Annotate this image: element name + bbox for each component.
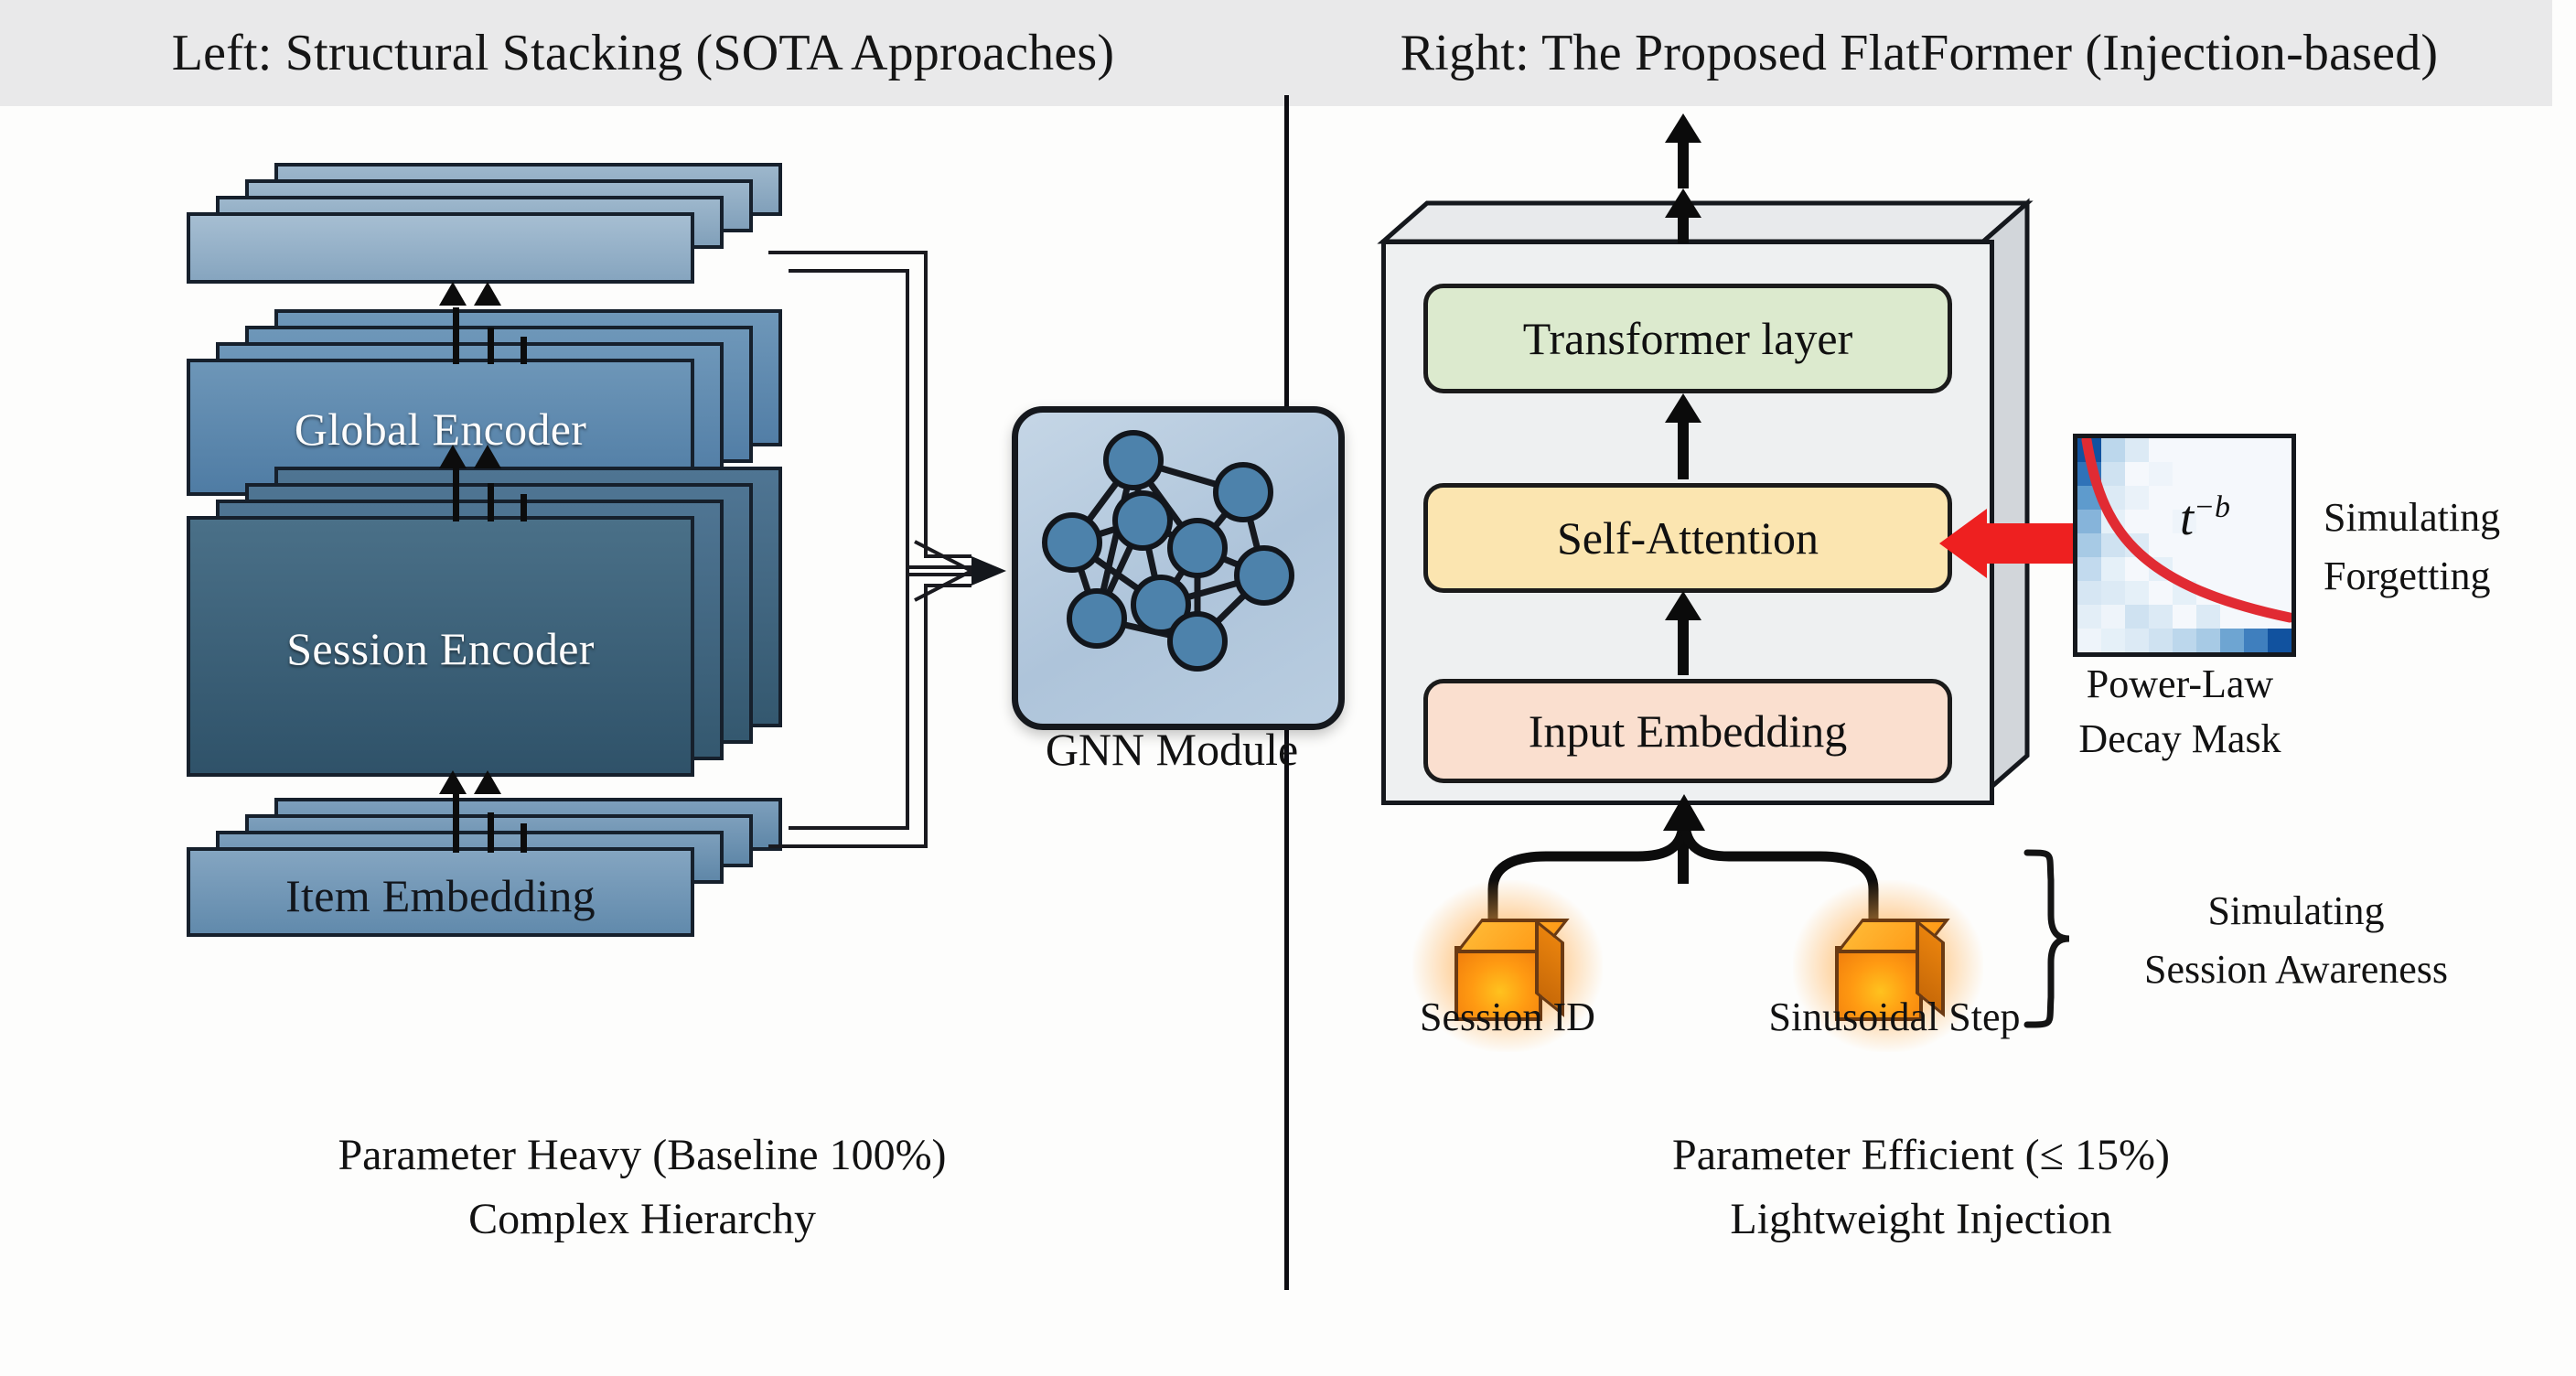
decay-mask-injection-arrow	[1939, 507, 2077, 580]
decay-mask-caption-line2: Decay Mask	[2060, 715, 2300, 762]
decay-formula-exponent: −b	[2194, 490, 2230, 524]
arrow-output	[1672, 188, 1694, 243]
slab-front: Session Encoder	[187, 516, 694, 777]
left-caption-line2: Complex Hierarchy	[0, 1191, 1284, 1248]
arrow-embedding-to-attention	[1672, 591, 1694, 675]
session-awareness-line2: Session Awareness	[2095, 946, 2497, 993]
decay-mask-caption-line1: Power-Law	[2060, 661, 2300, 707]
power-law-decay-mask-heatmap: t−b	[2073, 434, 2296, 657]
gnn-graph	[1018, 413, 1338, 724]
gnn-module-label: GNN Module	[1012, 723, 1332, 776]
slab-front	[187, 212, 694, 284]
arrow-input-to-embedding	[1672, 800, 1694, 884]
left-caption-line1: Parameter Heavy (Baseline 100%)	[0, 1127, 1284, 1184]
left-panel-title: Left: Structural Stacking (SOTA Approach…	[0, 0, 1286, 106]
sinusoidal-step-label: Sinusoidal Step	[1716, 994, 2073, 1040]
arrow-item-to-session	[453, 770, 535, 853]
simulating-forgetting-line1: Simulating	[2324, 494, 2500, 541]
self-attention-box[interactable]: Self-Attention	[1423, 483, 1952, 593]
session-awareness-line1: Simulating	[2095, 887, 2497, 934]
simulating-forgetting-line2: Forgetting	[2324, 553, 2491, 599]
arrow-global-to-top	[453, 282, 535, 364]
right-caption-line1: Parameter Efficient (≤ 15%)	[1290, 1127, 2552, 1184]
transformer-layer-box[interactable]: Transformer layer	[1423, 284, 1952, 393]
input-embedding-box[interactable]: Input Embedding	[1423, 679, 1952, 783]
arrow-output-tail	[1672, 113, 1694, 188]
arrow-session-to-global	[453, 445, 535, 521]
decay-formula-base: t	[2180, 490, 2194, 545]
right-caption-line2: Lightweight Injection	[1290, 1191, 2552, 1248]
right-panel-title: Right: The Proposed FlatFormer (Injectio…	[1286, 0, 2552, 106]
figure-root: Left: Structural Stacking (SOTA Approach…	[0, 0, 2576, 1376]
session-encoder-label: Session Encoder	[190, 622, 691, 675]
arrow-attention-to-transformer	[1672, 393, 1694, 479]
item-embedding-label: Item Embedding	[190, 869, 691, 922]
session-id-label: Session ID	[1370, 994, 1645, 1040]
slab-front: Item Embedding	[187, 847, 694, 937]
decay-formula: t−b	[2180, 489, 2230, 546]
gnn-module-card	[1012, 406, 1345, 730]
